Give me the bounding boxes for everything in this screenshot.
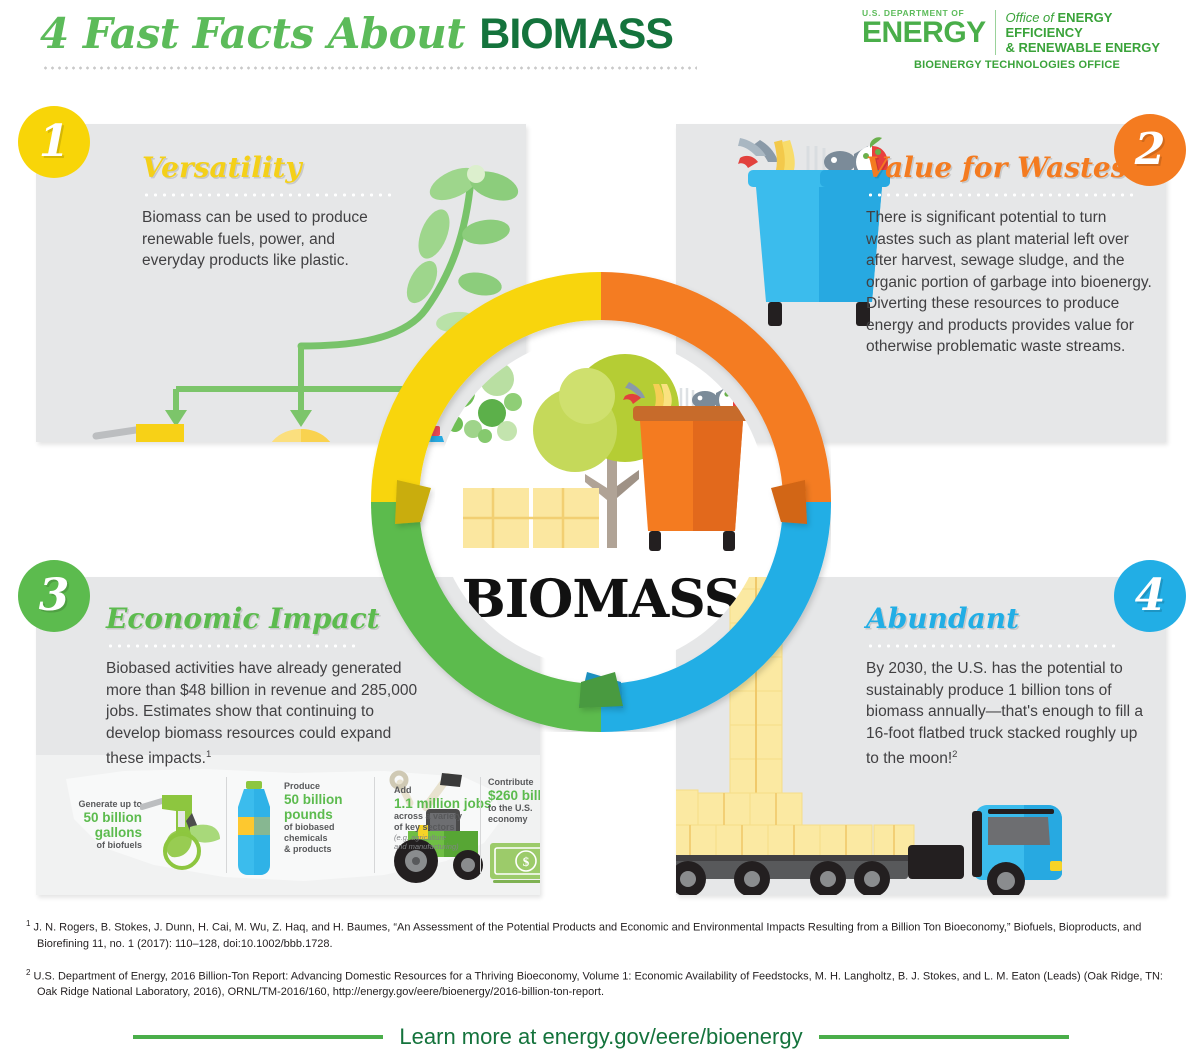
fact-title-1: Versatility <box>142 152 402 184</box>
fact-dotted-rule-1 <box>142 193 392 197</box>
fact-badge-2: 2 <box>1114 114 1186 186</box>
econ-stat-1-value: 50 billion <box>50 810 142 825</box>
econ-stat-2-value: 50 billion <box>284 792 366 807</box>
fact-dotted-rule-4 <box>866 644 1121 648</box>
econ-stat-4-value: $260 billion <box>488 788 540 803</box>
biomass-wordmark: BIOMASS <box>435 569 767 630</box>
fact-text-value-for-wastes: Value for Wastes There is significant po… <box>866 152 1156 358</box>
title-dark-part: BIOMASS <box>479 10 673 58</box>
footnote-2-marker: 2 <box>26 968 30 977</box>
footnote-1-marker: 1 <box>26 919 30 928</box>
fact-title-4: Abundant <box>866 603 1146 635</box>
econ-stat-1-unit: gallons <box>50 825 142 840</box>
econ-stat-1-text: Generate up to 50 billion gallons of bio… <box>50 799 142 851</box>
doe-office-line2: & RENEWABLE ENERGY <box>1005 40 1160 55</box>
svg-text:$: $ <box>523 854 530 869</box>
econ-stat-1-tail: of biofuels <box>50 840 142 851</box>
doe-logo: U.S. DEPARTMENT OF ENERGY Office of ENER… <box>862 8 1172 71</box>
plastic-bottle-icon <box>232 781 276 881</box>
fact-dotted-rule-2 <box>866 193 1138 197</box>
footer-rule-right <box>819 1035 1069 1039</box>
footnotes: 1 J. N. Rogers, B. Stokes, J. Dunn, H. C… <box>26 916 1186 1013</box>
learn-more-link[interactable]: Learn more at energy.gov/eere/bioenergy <box>399 1024 802 1050</box>
fact-body-4: By 2030, the U.S. has the potential to s… <box>866 658 1146 770</box>
fact-body-2: There is significant potential to turn w… <box>866 207 1156 358</box>
econ-stat-1-lead: Generate up to <box>50 799 142 810</box>
fact-body-4-text: By 2030, the U.S. has the potential to s… <box>866 660 1143 767</box>
title-light-part: 4 Fast Facts About <box>40 9 479 58</box>
cycle-inner-scene: BIOMASS <box>435 336 767 668</box>
lightbulb-icon <box>264 429 338 442</box>
econ-stat-2-text: Produce 50 billion pounds of biobased ch… <box>284 781 366 855</box>
page-header: 4 Fast Facts About BIOMASS U.S. DEPARTME… <box>0 0 1202 92</box>
footer-rule-left <box>133 1035 383 1039</box>
econ-stat-2-tail-2: chemicals <box>284 833 366 844</box>
econ-stat-4-text: Contribute $260 billion to the U.S. econ… <box>488 777 540 825</box>
fact-badge-1: 1 <box>18 106 90 178</box>
doe-energy-lockup: U.S. DEPARTMENT OF ENERGY <box>862 8 995 47</box>
econ-separator-2 <box>374 777 375 873</box>
econ-stat-2-lead: Produce <box>284 781 366 792</box>
fact-text-abundant: Abundant By 2030, the U.S. has the poten… <box>866 603 1146 770</box>
infographic-page: 4 Fast Facts About BIOMASS U.S. DEPARTME… <box>0 0 1202 1059</box>
econ-stat-4-tail-1: to the U.S. <box>488 803 540 814</box>
footnote-2: 2 U.S. Department of Energy, 2016 Billio… <box>26 965 1186 1001</box>
doe-office-lockup: Office of ENERGY EFFICIENCY & RENEWABLE … <box>996 8 1172 55</box>
econ-stat-2-tail-3: & products <box>284 844 366 855</box>
econ-separator-3 <box>480 777 481 873</box>
fact-body-3-superscript: 1 <box>206 749 211 760</box>
page-footer: Learn more at energy.gov/eere/bioenergy <box>0 1018 1202 1056</box>
header-dotted-rule <box>42 66 697 70</box>
doe-program-label: BIOENERGY TECHNOLOGIES OFFICE <box>862 59 1172 71</box>
center-biomass-cycle: BIOMASS <box>371 272 831 732</box>
hay-bales-icon <box>463 488 599 548</box>
fact-text-versatility: Versatility Biomass can be used to produ… <box>142 152 402 272</box>
dollar-bill-icon: $ <box>488 841 540 887</box>
fact-badge-3: 3 <box>18 560 90 632</box>
fuel-nozzle-icon <box>96 424 196 442</box>
footnote-1-line1: J. N. Rogers, B. Stokes, J. Dunn, H. Cai… <box>34 922 1120 934</box>
econ-stat-2-tail-1: of biobased <box>284 822 366 833</box>
fact-body-1: Biomass can be used to produce renewable… <box>142 207 402 272</box>
fact-dotted-rule-3 <box>106 644 358 648</box>
footnote-1: 1 J. N. Rogers, B. Stokes, J. Dunn, H. C… <box>26 916 1186 952</box>
fact-title-2: Value for Wastes <box>866 152 1156 184</box>
page-title: 4 Fast Facts About BIOMASS <box>40 8 673 60</box>
fact-body-4-superscript: 2 <box>952 749 957 760</box>
econ-stat-4-lead: Contribute <box>488 777 540 788</box>
footnote-2-line1: U.S. Department of Energy, 2016 Billion-… <box>34 970 1081 982</box>
doe-energy-wordmark: ENERGY <box>862 18 986 47</box>
econ-stat-2-unit: pounds <box>284 807 366 822</box>
econ-separator-1 <box>226 777 227 873</box>
econ-stat-4-tail-2: economy <box>488 814 540 825</box>
economic-stats-strip: Generate up to 50 billion gallons of bio… <box>36 755 540 895</box>
doe-office-of-label: Office of <box>1005 10 1057 25</box>
fact-badge-4: 4 <box>1114 560 1186 632</box>
fuel-nozzle-leaf-icon <box>140 775 220 885</box>
